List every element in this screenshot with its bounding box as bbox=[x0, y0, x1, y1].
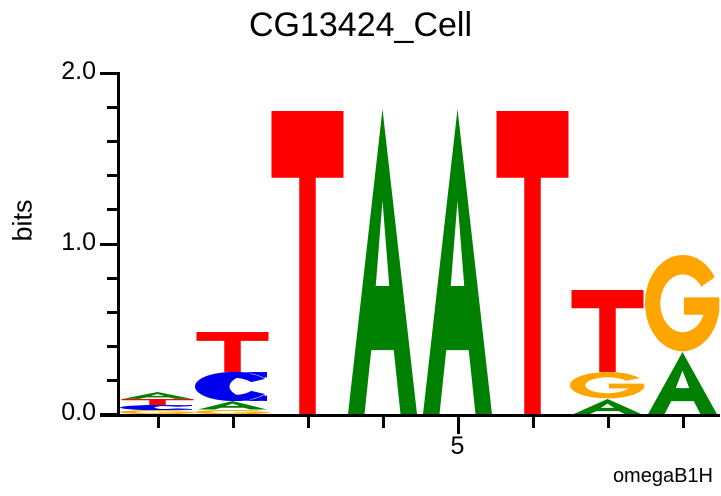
x-axis-tick-label: 5 bbox=[438, 432, 478, 461]
logo-stack bbox=[270, 73, 345, 414]
logo-letter-g bbox=[195, 410, 270, 414]
y-axis-minor-tick bbox=[107, 277, 118, 280]
y-axis-tick-label: 0.0 bbox=[40, 398, 96, 427]
logo-stacks bbox=[120, 73, 720, 414]
y-axis-minor-tick bbox=[107, 345, 118, 348]
logo-letter-a bbox=[345, 109, 420, 414]
logo-letter-t bbox=[195, 332, 270, 372]
logo-letter-t bbox=[495, 111, 570, 414]
x-axis-minor-tick bbox=[157, 417, 160, 428]
y-axis-minor-tick bbox=[107, 174, 118, 177]
logo-letter-g bbox=[120, 410, 195, 414]
logo-letter-g bbox=[645, 255, 720, 351]
logo-letter-c bbox=[195, 372, 270, 401]
x-axis-minor-tick bbox=[532, 417, 535, 428]
x-axis-minor-tick bbox=[682, 417, 685, 428]
logo-stack bbox=[195, 73, 270, 414]
y-axis-labels: 0.01.02.0 bbox=[30, 0, 96, 496]
y-axis-tick-label: 1.0 bbox=[40, 228, 96, 257]
logo-letter-a bbox=[120, 392, 195, 399]
x-axis-minor-tick bbox=[232, 417, 235, 428]
logo-stack bbox=[120, 73, 195, 414]
logo-letter-a bbox=[645, 352, 720, 414]
y-axis-minor-tick bbox=[107, 379, 118, 382]
x-axis-minor-tick bbox=[382, 417, 385, 428]
logo-stack bbox=[345, 73, 420, 414]
y-axis-minor-tick bbox=[107, 140, 118, 143]
logo-stack bbox=[420, 73, 495, 414]
chart-title: CG13424_Cell bbox=[0, 6, 721, 45]
logo-letter-t bbox=[270, 111, 345, 414]
x-axis-line bbox=[100, 414, 720, 417]
y-axis-minor-tick bbox=[107, 311, 118, 314]
y-axis-major-tick bbox=[100, 243, 118, 246]
logo-letter-a bbox=[420, 109, 495, 414]
x-axis-minor-tick bbox=[607, 417, 610, 428]
y-axis-tick-label: 2.0 bbox=[40, 57, 96, 86]
logo-stack bbox=[645, 73, 720, 414]
x-axis-minor-tick bbox=[307, 417, 310, 428]
logo-letter-g bbox=[570, 372, 645, 398]
watermark-label: omegaB1H bbox=[613, 465, 713, 488]
logo-stack bbox=[570, 73, 645, 414]
logo-letter-a bbox=[570, 399, 645, 414]
y-axis-major-tick bbox=[100, 72, 118, 75]
logo-letter-t bbox=[570, 290, 645, 373]
y-axis-minor-tick bbox=[107, 106, 118, 109]
y-axis-minor-tick bbox=[107, 208, 118, 211]
logo-letter-a bbox=[195, 401, 270, 410]
y-axis-major-tick bbox=[100, 413, 118, 416]
logo-stack bbox=[495, 73, 570, 414]
sequence-logo-figure: CG13424_Cell bits 0.01.02.0 5 omegaB1H bbox=[0, 0, 721, 496]
